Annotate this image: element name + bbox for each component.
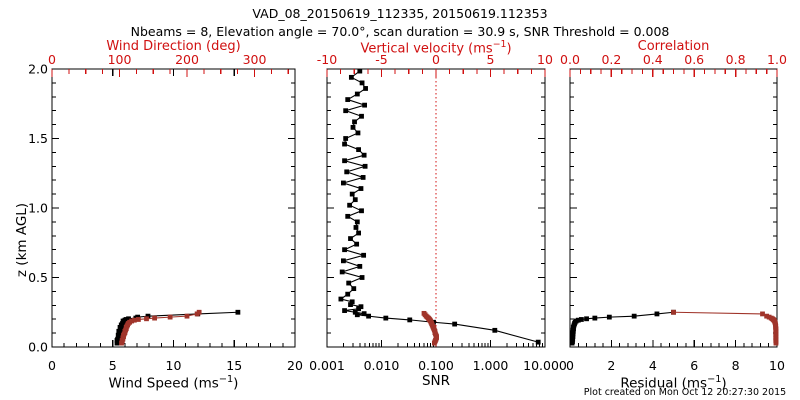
panel3-top-tick-label: 0.8 bbox=[726, 52, 746, 67]
y-tick-label: 0.0 bbox=[28, 340, 48, 355]
plot-canvas: 0.00.51.01.52.00510152001002003000.0010.… bbox=[0, 0, 800, 400]
panel3-top-tick-label: 0.0 bbox=[560, 52, 580, 67]
panel1-top-tick-label: 100 bbox=[108, 52, 132, 67]
panel3-top-axis-label: Correlation bbox=[570, 40, 777, 53]
vad-profile-figure: VAD_08_20150619_112335, 20150619.112353 … bbox=[0, 0, 800, 400]
panel3-x-tick-label: 4 bbox=[649, 358, 657, 373]
panel2-x-tick-label: 0.100 bbox=[418, 358, 454, 373]
panel3-x-tick-label: 2 bbox=[607, 358, 615, 373]
panel1-x-axis-label: Wind Speed (ms−1) bbox=[52, 375, 295, 391]
y-axis-label: z (km AGL) bbox=[14, 203, 30, 277]
panel1-top-tick-label: 300 bbox=[243, 52, 267, 67]
panel1-top-axis-label: Wind Direction (deg) bbox=[52, 40, 295, 53]
panel3-top-tick-label: 0.6 bbox=[684, 52, 704, 67]
panel3-frame bbox=[570, 69, 777, 347]
panel3-x-tick-label: 8 bbox=[732, 358, 740, 373]
y-tick-label: 1.5 bbox=[28, 131, 48, 146]
panel3-x-tick-label: 6 bbox=[690, 358, 698, 373]
panel2-x-tick-label: 0.010 bbox=[364, 358, 400, 373]
panel2-x-tick-label: 0.001 bbox=[309, 358, 345, 373]
panel1-x-tick-label: 10 bbox=[166, 358, 182, 373]
panel1-top-tick-label: 200 bbox=[175, 52, 199, 67]
plot-created-footnote: Plot created on Mon Oct 12 20:27:30 2015 bbox=[570, 388, 800, 398]
panel1-frame bbox=[52, 69, 295, 347]
series-snr bbox=[341, 71, 538, 342]
panel1-x-tick-label: 15 bbox=[226, 358, 242, 373]
y-tick-label: 0.5 bbox=[28, 270, 48, 285]
panel2-top-axis-label: Vertical velocity (ms−1) bbox=[327, 40, 545, 55]
panel1-top-tick-label: 0 bbox=[48, 52, 56, 67]
panel3-top-tick-label: 1.0 bbox=[767, 52, 787, 67]
panel1-x-tick-label: 5 bbox=[109, 358, 117, 373]
panel1-x-tick-label: 20 bbox=[287, 358, 303, 373]
panel2-x-axis-label: SNR bbox=[327, 375, 545, 389]
panel1-x-tick-label: 0 bbox=[48, 358, 56, 373]
panel3-x-tick-label: 10 bbox=[769, 358, 785, 373]
panel3-x-tick-label: 0 bbox=[566, 358, 574, 373]
panel3-top-tick-label: 0.2 bbox=[601, 52, 621, 67]
y-tick-label: 1.0 bbox=[28, 201, 48, 216]
panel2-x-tick-label: 10.000 bbox=[523, 358, 567, 373]
panel2-x-tick-label: 1.000 bbox=[473, 358, 509, 373]
y-tick-label: 2.0 bbox=[28, 62, 48, 77]
panel3-top-tick-label: 0.4 bbox=[643, 52, 663, 67]
series-correlation bbox=[674, 312, 776, 343]
